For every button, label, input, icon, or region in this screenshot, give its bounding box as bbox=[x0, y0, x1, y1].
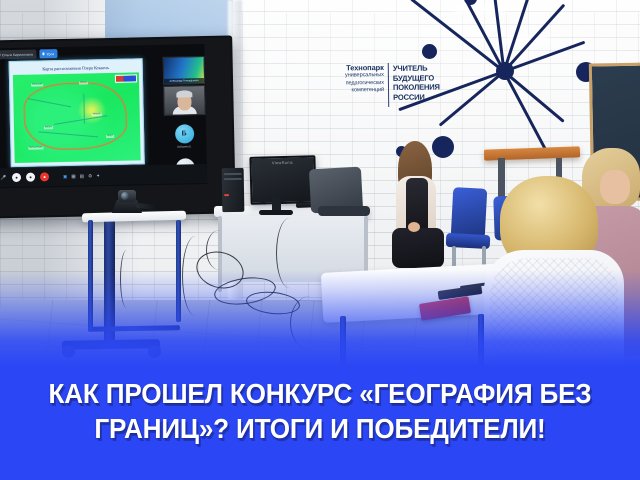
tab-dot-icon bbox=[42, 53, 45, 56]
burst-ray bbox=[439, 70, 505, 126]
participant-hair bbox=[176, 90, 192, 97]
map-label: Мультинские bbox=[28, 146, 43, 149]
headline-line-1: КАК ПРОШЕЛ КОНКУРС «ГЕОГРАФИЯ БЕЗ bbox=[48, 378, 591, 409]
end-call-button[interactable]: ● bbox=[40, 172, 49, 181]
burst-ray bbox=[503, 71, 551, 157]
pc-tower bbox=[222, 168, 245, 212]
student-hand bbox=[408, 222, 420, 232]
wall-sign-divider bbox=[388, 63, 390, 107]
map-label: Аргут bbox=[106, 135, 114, 138]
map-label: Катунь bbox=[44, 126, 53, 129]
monitor-stand-foot bbox=[259, 210, 293, 215]
mic-icon[interactable]: 🎤 bbox=[0, 173, 7, 182]
desktop-monitor: ViewSonic bbox=[249, 155, 316, 205]
map-label: Катунский bbox=[31, 83, 43, 86]
map-label: Кокколь bbox=[92, 113, 102, 116]
wall-sign-left: Технопарк универсальных педагогических к… bbox=[332, 64, 384, 95]
burst-node bbox=[432, 136, 454, 158]
wall-sign-right-1: УЧИТЕЛЬ bbox=[393, 63, 439, 73]
wall-sign-line-1: универсальных bbox=[332, 72, 384, 80]
office-chair-seat bbox=[318, 206, 370, 216]
blue-gradient-overlay bbox=[0, 270, 640, 480]
chat-icon[interactable]: ▦ bbox=[71, 173, 75, 179]
avatar: Б bbox=[174, 124, 193, 143]
headline-title: КАК ПРОШЕЛ КОНКУРС «ГЕОГРАФИЯ БЕЗ ГРАНИЦ… bbox=[16, 376, 624, 446]
more-options-icon[interactable]: ✦ bbox=[96, 173, 100, 179]
tab-lesson[interactable]: Урок bbox=[39, 49, 57, 58]
camera-button[interactable]: ● bbox=[12, 173, 21, 182]
conference-control-bar[interactable]: 🎤 ● ● ● ▣ ▦ ▤ ⚙ ✦ bbox=[0, 164, 207, 187]
wall-sign-right-2: БУДУЩЕГО bbox=[393, 73, 439, 83]
camera-lens-icon bbox=[121, 192, 129, 200]
whiteboard-screen[interactable]: Ольга Кирилловна Урок Карта расположения… bbox=[0, 44, 207, 188]
conference-tabs[interactable]: Ольга Кирилловна Урок bbox=[0, 49, 57, 59]
conference-avatar-1[interactable]: Б Бабурина Е. bbox=[164, 124, 205, 150]
participant-name: Александр Геннадьевич bbox=[164, 78, 204, 84]
monitor-brand-label: ViewSonic bbox=[251, 159, 313, 166]
tower-slot bbox=[224, 173, 242, 175]
burst-node bbox=[422, 44, 437, 59]
tab-lesson-label: Урок bbox=[46, 52, 54, 56]
burst-node-center bbox=[496, 62, 514, 80]
student-skirt bbox=[392, 228, 444, 268]
mauve-woman-face bbox=[600, 170, 630, 204]
wall-sign-right-4: РОССИИ bbox=[393, 92, 439, 102]
tab-participant[interactable]: Ольга Кирилловна bbox=[0, 50, 36, 60]
tower-slot bbox=[224, 178, 242, 180]
tab-participant-label: Ольга Кирилловна bbox=[2, 52, 33, 57]
participant-screen-share[interactable]: Александр Геннадьевич bbox=[163, 56, 206, 85]
headline-line-2: ГРАНИЦ»? ИТОГИ И ПОБЕДИТЕЛИ! bbox=[29, 411, 610, 446]
wall-sign-line-3: компетенций bbox=[332, 87, 384, 95]
wall-sign-right-3: ПОКОЛЕНИЯ bbox=[393, 83, 439, 93]
participants-button[interactable]: ● bbox=[26, 173, 35, 182]
share-screen-icon[interactable]: ▣ bbox=[63, 173, 67, 179]
map-region-outline bbox=[23, 81, 127, 150]
tower-power-led-icon bbox=[224, 194, 229, 196]
wall-sign-right: УЧИТЕЛЬ БУДУЩЕГО ПОКОЛЕНИЯ РОССИИ bbox=[393, 63, 439, 102]
screenshot-root: Технопарк универсальных педагогических к… bbox=[0, 0, 640, 480]
wall-sign: Технопарк универсальных педагогических к… bbox=[332, 61, 439, 112]
avatar-name: Бабурина Е. bbox=[164, 145, 204, 150]
grid-view-icon[interactable]: ▤ bbox=[80, 173, 84, 179]
map-label: Белуха bbox=[79, 81, 88, 84]
settings-icon[interactable]: ⚙ bbox=[88, 173, 92, 179]
burst-ray bbox=[503, 70, 565, 122]
slide-map-image: Катунский Белуха Кокколь Катунь Аргут Му… bbox=[13, 72, 141, 163]
conference-tools[interactable]: ▣ ▦ ▤ ⚙ ✦ bbox=[63, 173, 100, 180]
blue-chair-back-1 bbox=[451, 187, 488, 239]
cable-strand bbox=[206, 230, 233, 270]
participant-webcam[interactable] bbox=[163, 85, 206, 116]
presentation-slide[interactable]: Карта расположения Озера Кокколь Катунск… bbox=[9, 58, 145, 167]
map-legend bbox=[115, 74, 137, 82]
